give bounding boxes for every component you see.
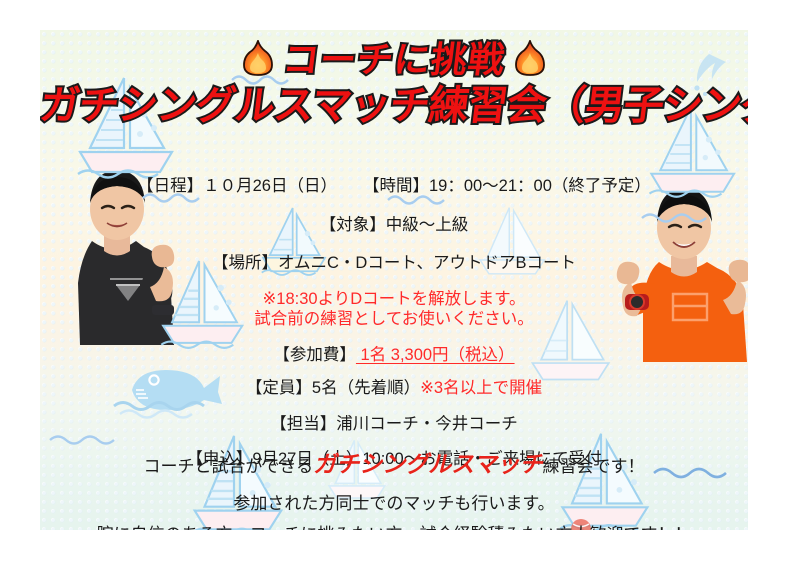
capacity-text: 【定員】5名（先着順） bbox=[246, 379, 420, 397]
schedule-line: 【日程】１０月26日（日）【時間】19：00～21：00（終了予定） bbox=[40, 178, 748, 195]
fee-text: 1名 3,300円（税込） bbox=[356, 346, 515, 364]
poster-canvas: コーチに挑戦 ガチシングルスマッチ練習会（男子シングルス） 【日程】１０月26日… bbox=[40, 30, 748, 530]
title-line-1-row: コーチに挑戦 bbox=[40, 40, 748, 80]
capacity-line: 【定員】5名（先着順）※3名以上で開催 bbox=[40, 380, 748, 397]
note-2-line: 試合前の練習としてお使いください。 bbox=[40, 311, 748, 328]
flame-icon bbox=[243, 40, 273, 76]
target-text: 【対象】中級～上級 bbox=[320, 216, 469, 234]
note-1-line: ※18:30よりDコートを解放します。 bbox=[40, 291, 748, 308]
closing-3-line: 腕に自信のある方、コーチに挑みたい方、試合経験積みたい方大歓迎です！！ bbox=[40, 526, 748, 530]
closing-2-line: 参加された方同士でのマッチも行います。 bbox=[40, 495, 748, 512]
flame-icon bbox=[515, 40, 545, 76]
staff-line: 【担当】浦川コーチ・今井コーチ bbox=[40, 416, 748, 433]
fee-line: 【参加費】 1名 3,300円（税込） bbox=[40, 347, 748, 364]
closing-1-text: ガチシングルスマッチ bbox=[313, 452, 542, 478]
poster-title: コーチに挑戦 ガチシングルスマッチ練習会（男子シングルス） bbox=[40, 40, 748, 128]
closing-1-text: コーチと試合ができる bbox=[144, 457, 314, 476]
title-line-2-row: ガチシングルスマッチ練習会（男子シングルス） bbox=[40, 84, 748, 128]
closing-2-text: 参加された方同士でのマッチも行います。 bbox=[233, 494, 554, 513]
closing-1-line: コーチと試合ができるガチシングルスマッチ練習会です！ bbox=[40, 454, 748, 477]
note-2-text: 試合前の練習としてお使いください。 bbox=[254, 310, 534, 328]
note-1-text: ※18:30よりDコートを解放します。 bbox=[262, 290, 525, 308]
staff-text: 【担当】浦川コーチ・今井コーチ bbox=[270, 415, 518, 433]
detail-list: 【日程】１０月26日（日）【時間】19：00～21：00（終了予定）【対象】中級… bbox=[40, 178, 748, 468]
target-line: 【対象】中級～上級 bbox=[40, 217, 748, 234]
closing-block: コーチと試合ができるガチシングルスマッチ練習会です！参加された方同士でのマッチも… bbox=[40, 454, 748, 530]
fee-text: 【参加費】 bbox=[273, 346, 356, 364]
closing-1-text: 練習会です！ bbox=[542, 457, 644, 476]
schedule-text: 【時間】19：00～21：00（終了予定） bbox=[363, 177, 651, 195]
closing-3-text: 腕に自信のある方、コーチに挑みたい方、試合経験積みたい方大歓迎です！！ bbox=[97, 525, 692, 530]
title-line-2: ガチシングルスマッチ練習会（男子シングルス） bbox=[40, 84, 748, 128]
schedule-text: 【日程】１０月26日（日） bbox=[137, 177, 337, 195]
title-line-1: コーチに挑戦 bbox=[281, 42, 508, 80]
capacity-text: ※3名以上で開催 bbox=[420, 379, 542, 397]
venue-text: 【場所】オムニC・Dコート、アウトドアBコート bbox=[212, 254, 576, 272]
venue-line: 【場所】オムニC・Dコート、アウトドアBコート bbox=[40, 255, 748, 272]
poster-page: コーチに挑戦 ガチシングルスマッチ練習会（男子シングルス） 【日程】１０月26日… bbox=[0, 0, 800, 566]
